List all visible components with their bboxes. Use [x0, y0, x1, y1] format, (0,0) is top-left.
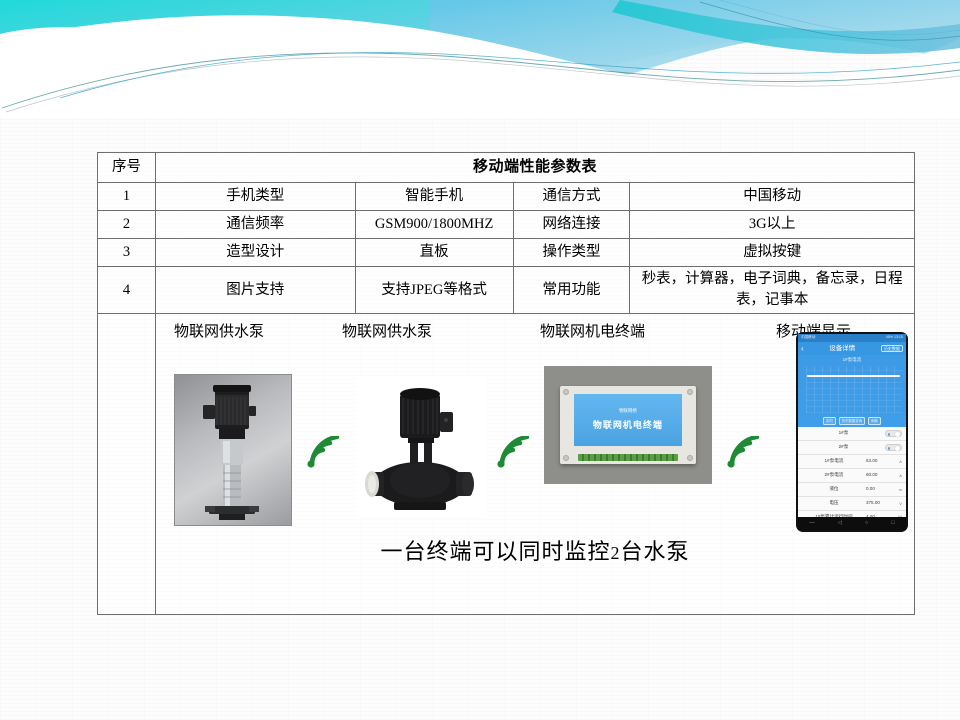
screw-icon [563, 389, 569, 395]
param-label: 2#泵电流 [802, 472, 866, 479]
phone-navigation-bar: — ◁ ○ □ [798, 517, 906, 530]
param-label: 液位 [802, 486, 866, 493]
chart-button-realtime[interactable]: 实时 [823, 417, 836, 425]
param-value: 63.00 [866, 458, 892, 465]
diagram-cell: 物联网供水泵 物联网供水泵 物联网机电终端 移动端显示 [155, 314, 914, 615]
param-unit: A [892, 473, 902, 479]
chart-title: 1#泵电流 [802, 357, 902, 364]
row-value-1: 智能手机 [355, 183, 513, 211]
list-item: 1#泵电流 63.00 A [798, 455, 906, 469]
list-item: 电压 375.00 V [798, 497, 906, 511]
row-index: 2 [98, 211, 156, 239]
pump2-toggle[interactable] [885, 444, 902, 451]
status-carrier: 中国移动 [801, 335, 815, 340]
row-key-1: 手机类型 [155, 183, 355, 211]
wifi-signal-icon [722, 436, 764, 472]
terminal-brand: 物联网络 [619, 408, 637, 415]
row-key-2: 通信方式 [513, 183, 630, 211]
diagram-bottom-caption: 一台终端可以同时监控2台水泵 [156, 536, 914, 568]
phone-title-bar: ‹ 设备详情 历史数据 [798, 342, 906, 355]
caption-suffix: 台水泵 [620, 539, 689, 564]
status-battery-time: 45% 13:15 [886, 335, 903, 340]
caption-terminal: 物联网机电终端 [540, 322, 645, 344]
row-key-2: 网络连接 [513, 211, 630, 239]
param-value: 0.00 [866, 486, 892, 493]
param-unit: A [892, 459, 902, 465]
param-value: 60.00 [866, 472, 892, 479]
row-value-2: 3G以上 [630, 211, 915, 239]
caption-pump-1: 物联网供水泵 [174, 322, 264, 344]
pump-vertical-drawing [175, 375, 291, 525]
list-item: 液位 0.00 m [798, 483, 906, 497]
diagram-row: 物联网供水泵 物联网供水泵 物联网机电终端 移动端显示 [98, 314, 915, 615]
caption-pump-2: 物联网供水泵 [342, 322, 432, 344]
row-key-2: 常用功能 [513, 267, 630, 314]
row-key-1: 造型设计 [155, 239, 355, 267]
decorative-wave-banner [0, 0, 960, 118]
pump-inline-drawing [356, 376, 484, 514]
row-index: 4 [98, 267, 156, 314]
list-item-switch[interactable]: 2#泵 [798, 441, 906, 455]
table-row: 4 图片支持 支持JPEG等格式 常用功能 秒表，计算器，电子词典，备忘录，日程… [98, 267, 915, 314]
table-row: 1 手机类型 智能手机 通信方式 中国移动 [98, 183, 915, 211]
phone-parameter-list: 1#泵 2#泵 1#泵电流 63.00 [798, 427, 906, 517]
caption-number: 2 [610, 543, 620, 563]
nav-recents-icon[interactable]: □ [891, 520, 894, 528]
terminal-connector-strip [578, 454, 678, 461]
phone-screen: 中国移动 45% 13:15 ‹ 设备详情 历史数据 1#泵电流 [798, 334, 906, 530]
chart-series-line [807, 375, 900, 377]
terminal-enclosure: 物联网络 物联网机电终端 [560, 386, 696, 464]
chart-button-group: 实时 历史数据查询 刷新 [798, 417, 906, 425]
row-value-1: GSM900/1800MHZ [355, 211, 513, 239]
row-value-2: 秒表，计算器，电子词典，备忘录，日程表，记事本 [630, 267, 915, 314]
nav-menu-icon[interactable]: — [809, 520, 815, 528]
header-title-cell: 移动端性能参数表 [155, 153, 914, 183]
iot-terminal-image: 物联网络 物联网机电终端 [544, 366, 712, 484]
history-data-button[interactable]: 历史数据 [881, 345, 903, 353]
row-index: 1 [98, 183, 156, 211]
screw-icon [563, 455, 569, 461]
vertical-multistage-pump-image [174, 374, 292, 526]
header-index-cell: 序号 [98, 153, 156, 183]
table-row: 3 造型设计 直板 操作类型 虚拟按键 [98, 239, 915, 267]
row-value-2: 中国移动 [630, 183, 915, 211]
nav-home-icon[interactable]: ○ [865, 520, 868, 528]
row-key-1: 通信频率 [155, 211, 355, 239]
diagram-empty-index-cell [98, 314, 156, 615]
slide: 序号 移动端性能参数表 1 手机类型 智能手机 通信方式 中国移动 2 通信频率… [0, 0, 960, 720]
row-value-1: 支持JPEG等格式 [355, 267, 513, 314]
wifi-signal-icon [302, 436, 344, 472]
screw-icon [687, 455, 693, 461]
row-key-2: 操作类型 [513, 239, 630, 267]
table-row: 2 通信频率 GSM900/1800MHZ 网络连接 3G以上 [98, 211, 915, 239]
switch-label: 2#泵 [802, 444, 885, 451]
inline-centrifugal-pump-image [356, 376, 486, 516]
param-label: 电压 [802, 500, 866, 507]
row-key-1: 图片支持 [155, 267, 355, 314]
diagram-canvas: 物联网供水泵 物联网供水泵 物联网机电终端 移动端显示 [156, 314, 914, 614]
row-value-1: 直板 [355, 239, 513, 267]
param-unit: m [892, 487, 902, 493]
wifi-signal-icon [492, 436, 534, 472]
phone-current-chart: 1#泵电流 实时 历史数据查询 刷新 [798, 355, 906, 427]
chart-button-history[interactable]: 历史数据查询 [839, 417, 865, 425]
mobile-phone-image: 中国移动 45% 13:15 ‹ 设备详情 历史数据 1#泵电流 [796, 332, 908, 532]
pump1-toggle[interactable] [885, 430, 902, 437]
screw-icon [687, 389, 693, 395]
phone-page-title: 设备详情 [804, 344, 881, 353]
terminal-device-name: 物联网机电终端 [593, 419, 663, 432]
param-label: 1#泵电流 [802, 458, 866, 465]
chart-gridlines [806, 366, 902, 413]
mobile-parameter-table: 序号 移动端性能参数表 1 手机类型 智能手机 通信方式 中国移动 2 通信频率… [97, 152, 915, 615]
param-unit: V [892, 501, 902, 507]
param-value: 375.00 [866, 500, 892, 507]
caption-prefix: 一台终端可以同时监控 [380, 539, 610, 564]
list-item-switch[interactable]: 1#泵 [798, 427, 906, 441]
table-header-row: 序号 移动端性能参数表 [98, 153, 915, 183]
phone-status-bar: 中国移动 45% 13:15 [798, 334, 906, 342]
list-item: 2#泵电流 60.00 A [798, 469, 906, 483]
row-index: 3 [98, 239, 156, 267]
chart-button-refresh[interactable]: 刷新 [868, 417, 881, 425]
switch-label: 1#泵 [802, 430, 885, 437]
row-value-2: 虚拟按键 [630, 239, 915, 267]
terminal-faceplate: 物联网络 物联网机电终端 [574, 394, 682, 446]
nav-back-icon[interactable]: ◁ [838, 520, 842, 528]
